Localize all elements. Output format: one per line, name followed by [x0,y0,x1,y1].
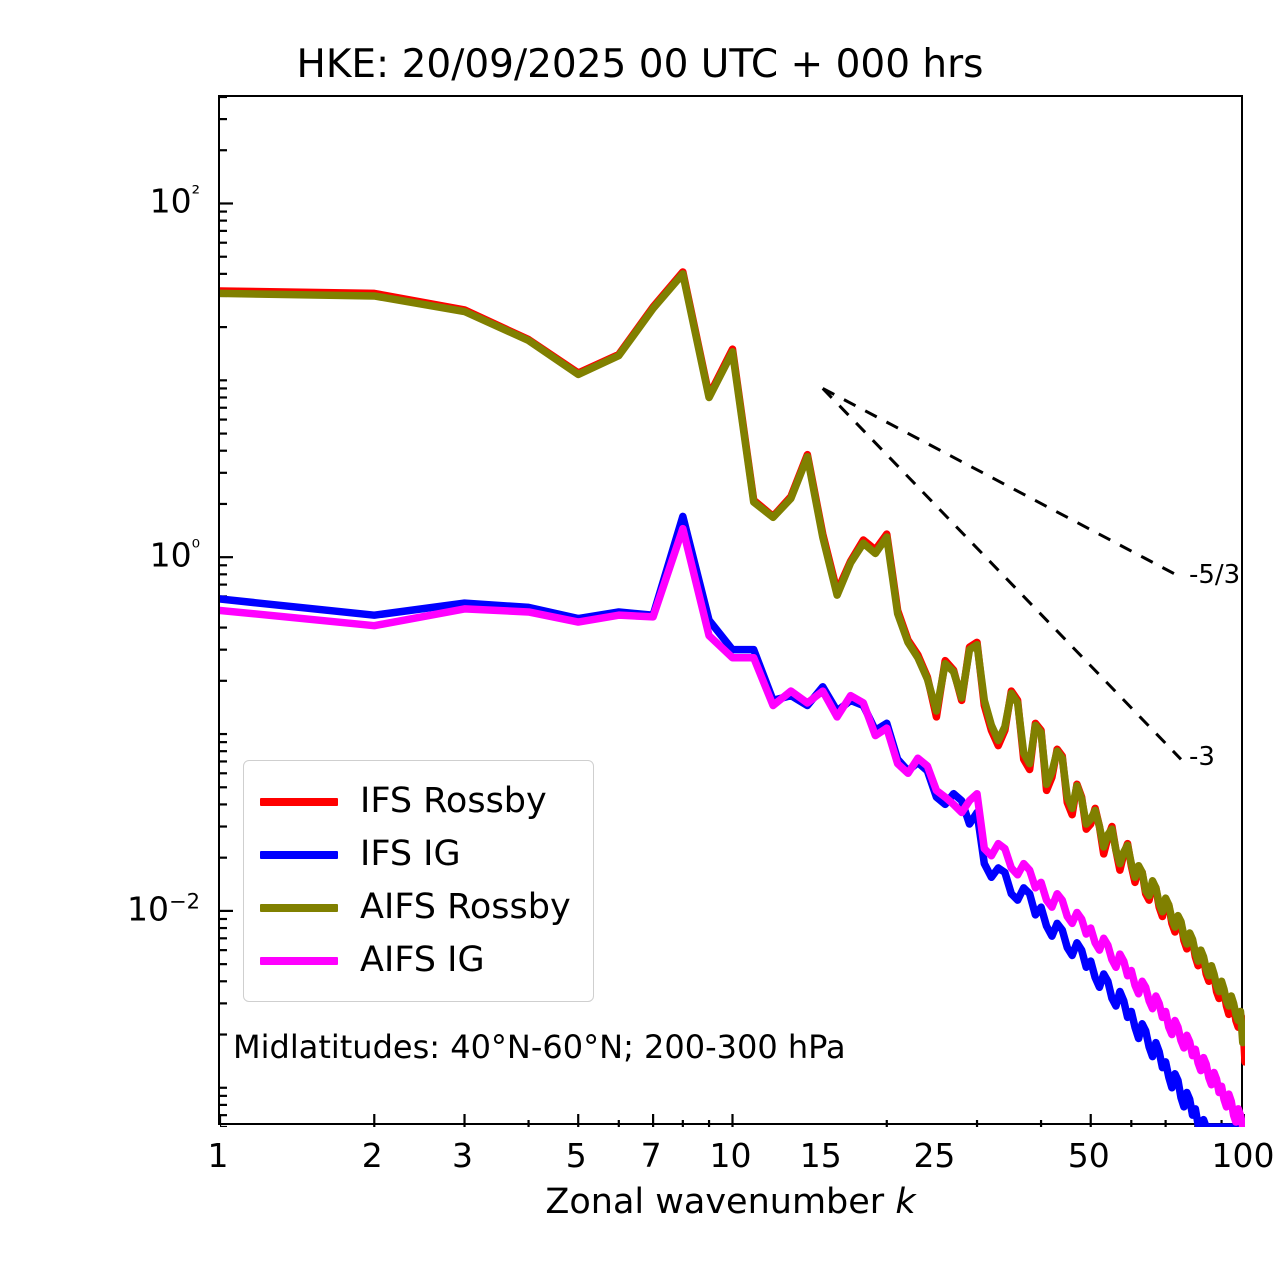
slope-label--5-3: -5/3 [1189,560,1240,590]
legend-color-swatch [260,851,338,859]
x-tick-label: 7 [641,1136,662,1175]
legend-item[interactable]: IFS IG [260,828,571,881]
legend-item[interactable]: IFS Rossby [260,775,571,828]
x-tick-label: 3 [452,1136,473,1175]
legend-color-swatch [260,798,338,806]
legend-color-swatch [260,904,338,912]
reference-slope-line--3 [823,388,1181,759]
y-tick-label: 10⁰ [150,536,200,575]
x-axis-label-symbol: k [895,1182,915,1222]
x-tick-label: 10 [710,1136,752,1175]
region-annotation: Midlatitudes: 40°N-60°N; 200-300 hPa [233,1028,846,1066]
x-axis-tick-labels: 1235710152550100 [218,1136,1243,1186]
slope-label--3: -3 [1189,742,1215,772]
y-tick-label: 10−2 [127,889,200,928]
x-tick-label: 15 [800,1136,842,1175]
x-axis-label-text: Zonal wavenumber [545,1182,895,1222]
legend-item[interactable]: AIFS IG [260,934,571,987]
y-axis-tick-labels: 10−210⁰10² [60,95,200,1125]
legend-item[interactable]: AIFS Rossby [260,881,571,934]
page-title: HKE: 20/09/2025 00 UTC + 000 hrs [0,42,1280,87]
x-tick-label: 50 [1068,1136,1110,1175]
legend[interactable]: IFS RossbyIFS IGAIFS RossbyAIFS IG [243,760,594,1002]
legend-color-swatch [260,957,338,965]
legend-label: AIFS IG [360,943,485,978]
legend-label: AIFS Rossby [360,890,571,925]
legend-label: IFS Rossby [360,784,547,819]
chart-page: HKE: 20/09/2025 00 UTC + 000 hrs Horizon… [0,0,1280,1288]
x-tick-label: 2 [362,1136,383,1175]
x-tick-label: 1 [208,1136,229,1175]
legend-label: IFS IG [360,837,461,872]
x-tick-label: 5 [566,1136,587,1175]
x-tick-label: 25 [913,1136,955,1175]
y-tick-label: 10² [150,182,200,221]
x-axis-label: Zonal wavenumber k [218,1182,1243,1222]
x-tick-label: 100 [1212,1136,1275,1175]
